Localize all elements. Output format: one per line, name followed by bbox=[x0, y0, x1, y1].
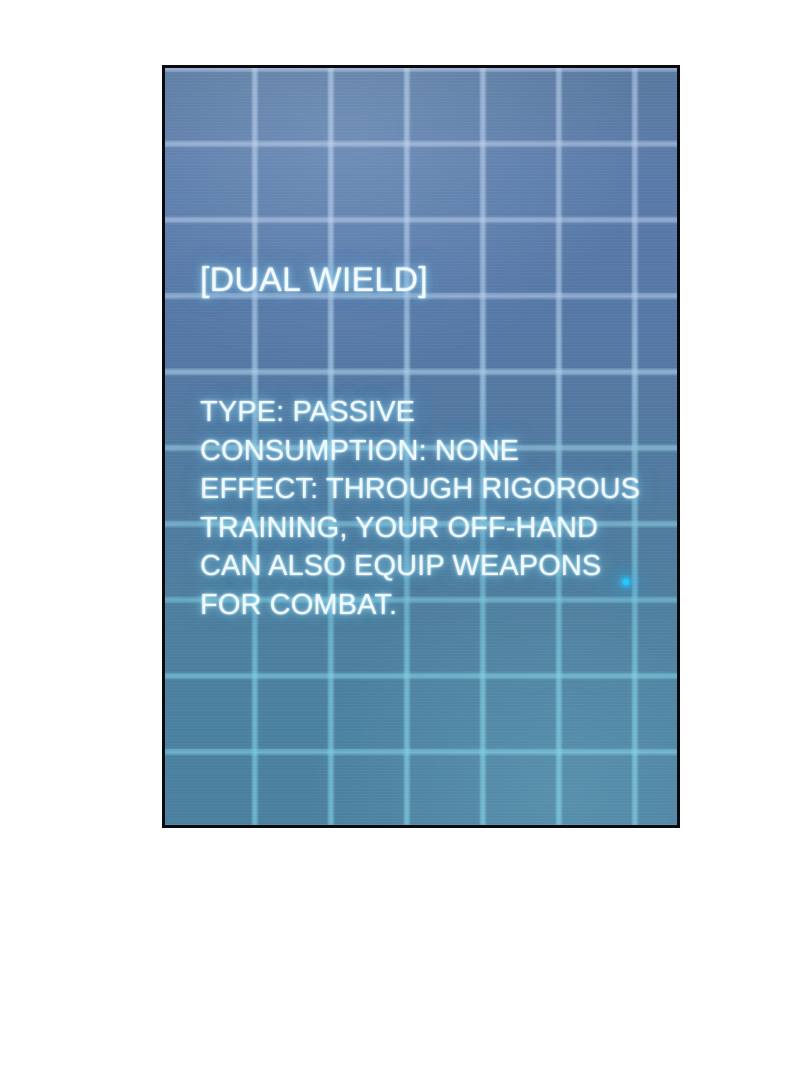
skill-info-panel: [DUAL WIELD] TYPE: PASSIVE CONSUMPTION: … bbox=[162, 65, 680, 828]
stat-line-effect-2: TRAINING, YOUR OFF-HAND bbox=[200, 509, 670, 548]
stat-line-effect-1: EFFECT: THROUGH RIGOROUS bbox=[200, 470, 670, 509]
page-canvas: [DUAL WIELD] TYPE: PASSIVE CONSUMPTION: … bbox=[0, 0, 800, 1067]
stat-line-type: TYPE: PASSIVE bbox=[200, 393, 670, 432]
panel-content: [DUAL WIELD] TYPE: PASSIVE CONSUMPTION: … bbox=[200, 68, 667, 825]
skill-stats-block: TYPE: PASSIVE CONSUMPTION: NONE EFFECT: … bbox=[200, 393, 670, 624]
stat-line-consumption: CONSUMPTION: NONE bbox=[200, 432, 670, 471]
skill-title: [DUAL WIELD] bbox=[200, 260, 428, 300]
sparkle-dot-icon bbox=[623, 579, 629, 585]
stat-line-effect-4: FOR COMBAT. bbox=[200, 586, 670, 625]
stat-line-effect-3: CAN ALSO EQUIP WEAPONS bbox=[200, 547, 670, 586]
